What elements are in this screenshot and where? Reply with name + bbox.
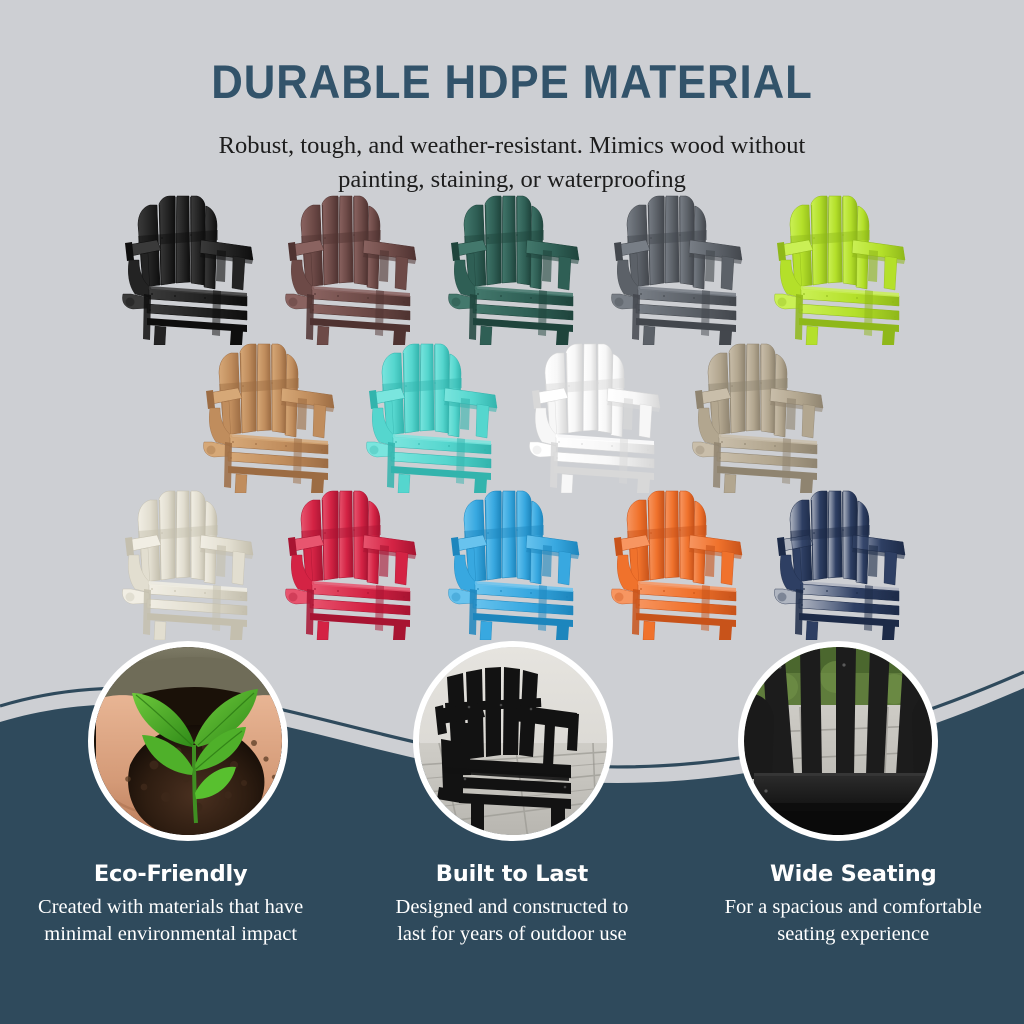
caption-body-line-2: last for years of outdoor use (341, 921, 682, 948)
caption-body: Created with materials that have minimal… (0, 894, 341, 948)
caption-body-line-1: For a spacious and comfortable (683, 894, 1024, 921)
feature-circle-wide-seating (738, 641, 938, 841)
caption-heading: Eco-Friendly (0, 862, 341, 887)
caption-eco-friendly: Eco-Friendly Created with materials that… (0, 862, 341, 948)
feature-circle-built-to-last (413, 641, 613, 841)
caption-body: For a spacious and comfortable seating e… (683, 894, 1024, 948)
caption-body-line-2: minimal environmental impact (0, 921, 341, 948)
caption-body-line-2: seating experience (683, 921, 1024, 948)
caption-body-line-1: Designed and constructed to (341, 894, 682, 921)
caption-built-to-last: Built to Last Designed and constructed t… (341, 862, 682, 948)
infographic-canvas: DURABLE HDPE MATERIAL Robust, tough, and… (0, 0, 1024, 1024)
black-chair-wide-seat-closeup-photo (744, 647, 932, 835)
black-adirondack-chair-on-patio-photo (419, 647, 607, 835)
caption-heading: Built to Last (341, 862, 682, 887)
feature-captions: Eco-Friendly Created with materials that… (0, 862, 1024, 948)
caption-heading: Wide Seating (683, 862, 1024, 887)
caption-body: Designed and constructed to last for yea… (341, 894, 682, 948)
caption-wide-seating: Wide Seating For a spacious and comforta… (683, 862, 1024, 948)
feature-circle-eco-friendly (88, 641, 288, 841)
hands-holding-seedling-photo (94, 647, 282, 835)
caption-body-line-1: Created with materials that have (0, 894, 341, 921)
